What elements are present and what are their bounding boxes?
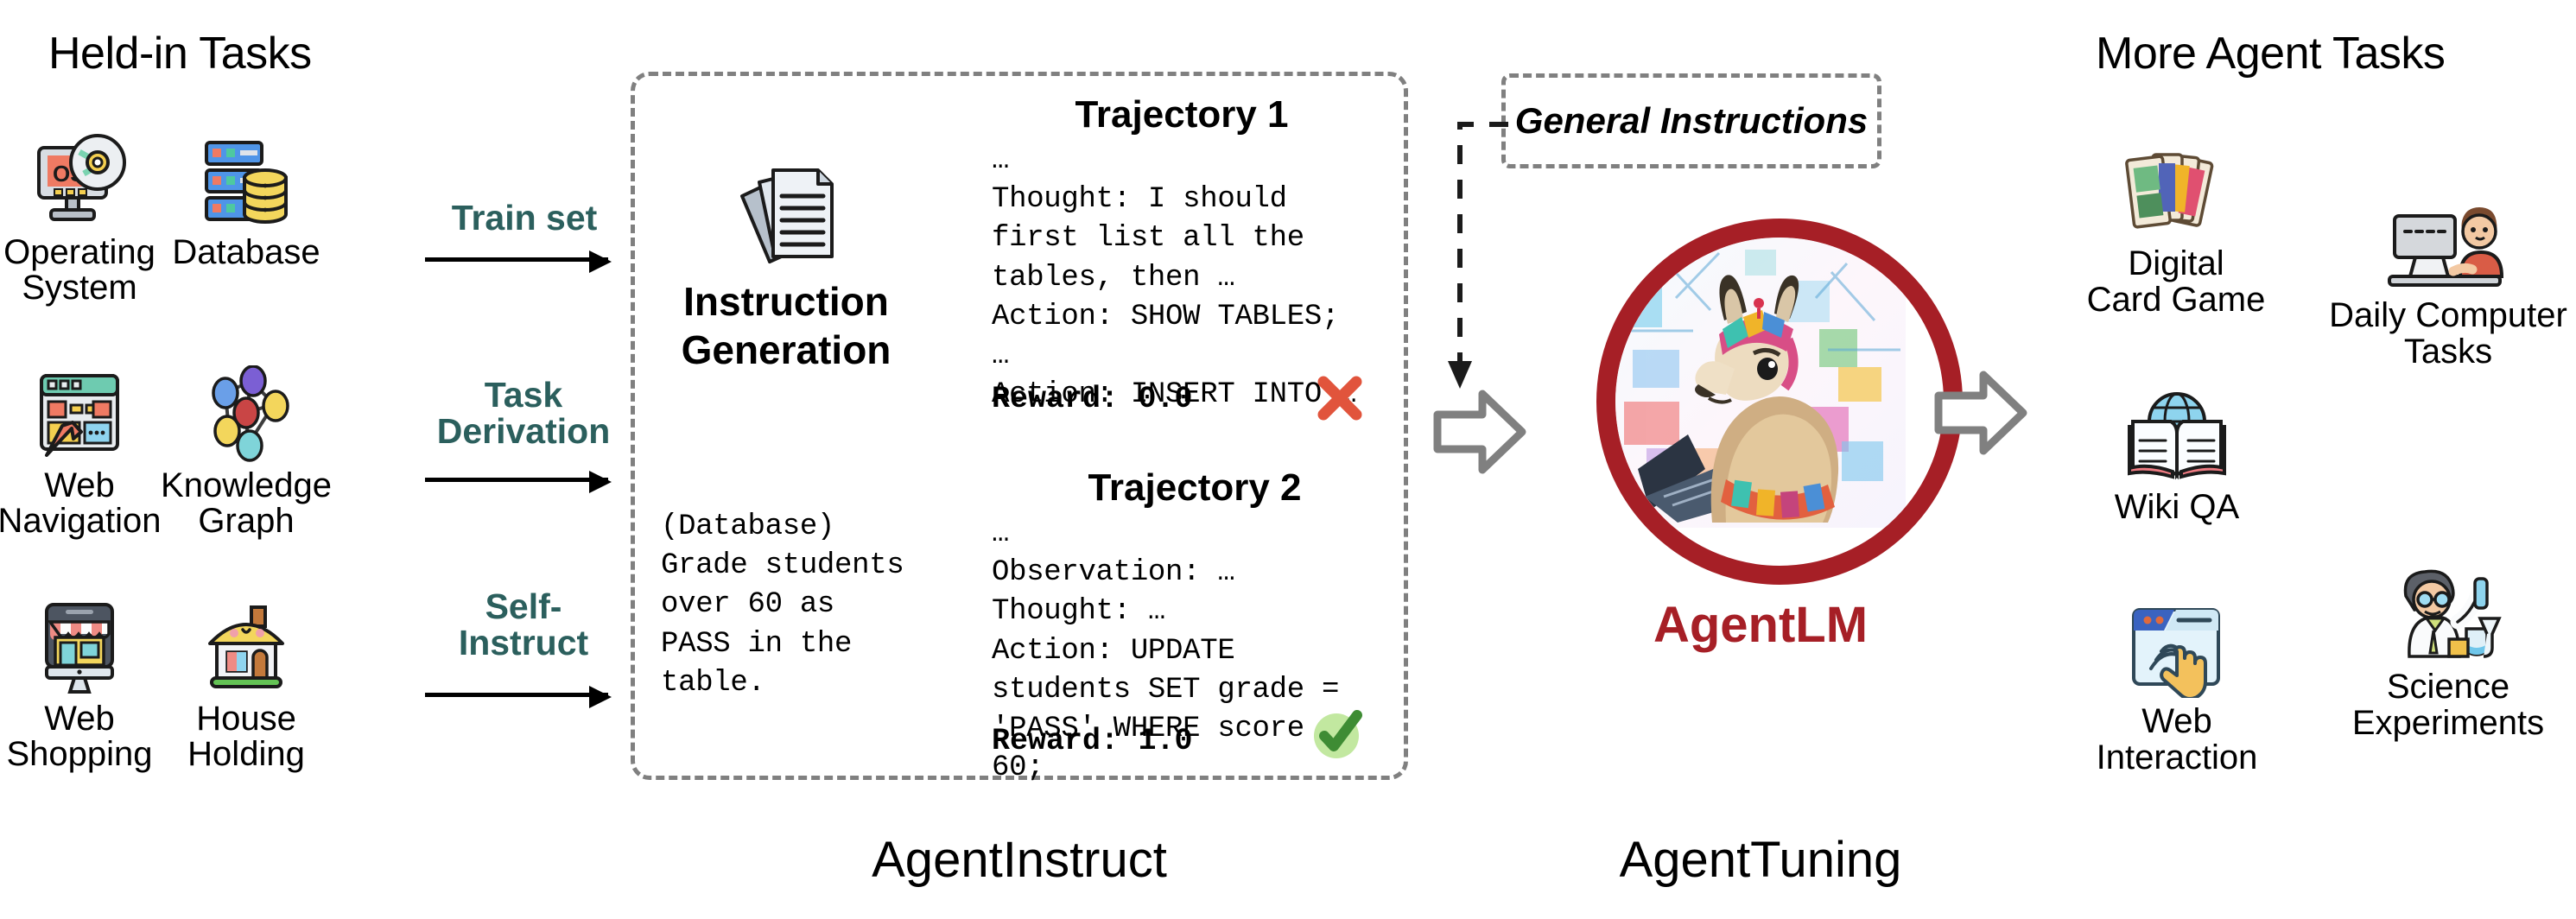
train-set-arrow bbox=[425, 257, 608, 262]
general-instructions-feed-line bbox=[1434, 112, 1538, 410]
more-agent-tasks-title: More Agent Tasks bbox=[2096, 28, 2445, 79]
browser-cursor-icon bbox=[0, 363, 166, 465]
task-label: House Holding bbox=[160, 701, 333, 772]
cross-mark-icon bbox=[1315, 373, 1365, 428]
flow-arrow-to-agenttuning bbox=[1432, 380, 1527, 488]
task-tile-daily-computer-tasks: Daily Computer Tasks bbox=[2322, 199, 2574, 370]
arrow-label-self-instruct: Self- Instruct bbox=[420, 589, 627, 662]
task-label: Database bbox=[160, 235, 333, 270]
reward-value: 0.0 bbox=[1138, 382, 1192, 416]
database-server-icon bbox=[160, 130, 333, 231]
arrow-label-train-set: Train set bbox=[425, 200, 624, 237]
task-tile-web-interaction: Web Interaction bbox=[2056, 605, 2298, 776]
task-derivation-arrow bbox=[425, 478, 608, 482]
task-label: Knowledge Graph bbox=[160, 468, 333, 539]
arrow-label-task-derivation: Task Derivation bbox=[420, 377, 627, 450]
task-tile-wiki-qa: Wiki QA bbox=[2056, 390, 2298, 525]
reward-value: 1.0 bbox=[1138, 724, 1192, 758]
task-tile-digital-card-game: Digital Card Game bbox=[2051, 147, 2301, 318]
task-tile-operating-system: OS Operating System bbox=[0, 130, 166, 306]
general-instructions-box: General Instructions bbox=[1501, 73, 1881, 168]
task-tile-web-navigation: Web Navigation bbox=[0, 363, 166, 539]
agentinstruct-label: AgentInstruct bbox=[803, 831, 1235, 889]
task-tile-web-shopping: Web Shopping bbox=[0, 596, 166, 772]
reward-label: Reward: bbox=[992, 382, 1119, 416]
task-label: Web Shopping bbox=[0, 701, 166, 772]
task-tile-house-holding: House Holding bbox=[160, 596, 333, 772]
open-book-globe-icon bbox=[2056, 390, 2298, 484]
task-tile-knowledge-graph: Knowledge Graph bbox=[160, 363, 333, 539]
agentlm-label: AgentLM bbox=[1596, 596, 1925, 654]
reward-label: Reward: bbox=[992, 724, 1119, 758]
task-label: Web Navigation bbox=[0, 468, 166, 539]
self-instruct-arrow bbox=[425, 693, 608, 697]
task-label: Web Interaction bbox=[2056, 703, 2298, 776]
task-label: Digital Card Game bbox=[2051, 245, 2301, 318]
general-instructions-label: General Instructions bbox=[1515, 100, 1868, 142]
scientist-icon bbox=[2322, 570, 2574, 663]
person-at-computer-icon bbox=[2322, 199, 2574, 292]
flow-arrow-to-more-tasks bbox=[1933, 361, 2028, 469]
browser-tap-icon bbox=[2056, 605, 2298, 698]
instruction-text: (Database) Grade students over 60 as PAS… bbox=[661, 508, 946, 703]
house-icon bbox=[160, 596, 333, 698]
trajectory-1-block: Trajectory 1 … Thought: I should first l… bbox=[992, 93, 1372, 415]
check-mark-icon bbox=[1307, 701, 1369, 768]
trajectory-1-title: Trajectory 1 bbox=[992, 93, 1372, 136]
trajectory-1-reward: Reward: 0.0 bbox=[992, 382, 1193, 416]
task-tile-database: Database bbox=[160, 130, 333, 270]
task-tile-science-experiments: Science Experiments bbox=[2322, 570, 2574, 741]
knowledge-graph-icon bbox=[160, 363, 333, 465]
monitor-disc-icon: OS bbox=[0, 130, 166, 231]
agentlm-medallion bbox=[1596, 219, 1963, 585]
online-store-icon bbox=[0, 596, 166, 698]
trajectory-2-title: Trajectory 2 bbox=[992, 466, 1398, 510]
agenttuning-label: AgentTuning bbox=[1545, 831, 1976, 889]
task-label: Wiki QA bbox=[2056, 489, 2298, 525]
instruction-generation-label: Instruction Generation bbox=[657, 277, 916, 374]
task-label: Daily Computer Tasks bbox=[2322, 297, 2574, 370]
llama-avatar bbox=[1615, 238, 1944, 566]
trajectory-2-reward: Reward: 1.0 bbox=[992, 724, 1193, 758]
instruction-generation-block: Instruction Generation bbox=[657, 151, 916, 374]
documents-stack-icon bbox=[657, 151, 916, 272]
task-label: Operating System bbox=[0, 235, 166, 306]
task-label: Science Experiments bbox=[2322, 669, 2574, 741]
held-in-tasks-title: Held-in Tasks bbox=[48, 28, 312, 79]
playing-cards-icon bbox=[2051, 147, 2301, 240]
